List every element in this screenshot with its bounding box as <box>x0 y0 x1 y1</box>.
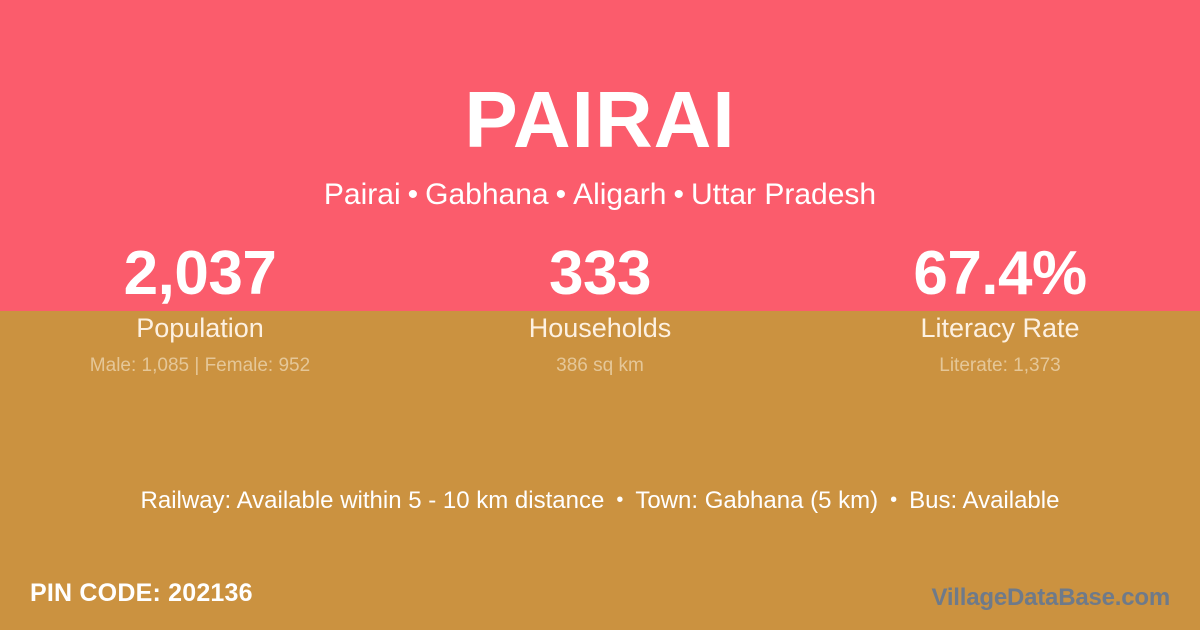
breadcrumb-district: Aligarh <box>573 178 666 211</box>
stat-sub: 386 sq km <box>400 344 800 378</box>
amenity-bus: Bus: Available <box>909 487 1059 514</box>
breadcrumb-state: Uttar Pradesh <box>691 178 876 211</box>
stat-label: Households <box>400 308 800 344</box>
stat-population: 2,037 Population Male: 1,085 | Female: 9… <box>0 240 400 378</box>
amenity-railway: Railway: Available within 5 - 10 km dist… <box>141 487 605 514</box>
card-footer: PIN CODE: 202136 VillageDataBase.com <box>0 572 1200 630</box>
village-info-card: PAIRAI Pairai•Gabhana•Aligarh•Uttar Prad… <box>0 0 1200 630</box>
breadcrumb-separator: • <box>401 178 426 211</box>
stat-sub: Literate: 1,373 <box>800 344 1200 378</box>
stat-households: 333 Households 386 sq km <box>400 240 800 378</box>
stat-value: 2,037 <box>0 240 400 308</box>
card-header: PAIRAI Pairai•Gabhana•Aligarh•Uttar Prad… <box>0 0 1200 210</box>
amenity-separator: • <box>604 489 635 511</box>
breadcrumb-block: Gabhana <box>425 178 548 211</box>
breadcrumb-village: Pairai <box>324 178 401 211</box>
stat-label: Literacy Rate <box>800 308 1200 344</box>
breadcrumb-separator: • <box>666 178 691 211</box>
amenity-separator: • <box>878 489 909 511</box>
amenities-line: Railway: Available within 5 - 10 km dist… <box>0 482 1200 519</box>
stat-sub: Male: 1,085 | Female: 952 <box>0 344 400 378</box>
stat-value: 67.4% <box>800 240 1200 308</box>
pin-code: PIN CODE: 202136 <box>30 576 253 610</box>
breadcrumb: Pairai•Gabhana•Aligarh•Uttar Pradesh <box>0 160 1200 210</box>
stat-value: 333 <box>400 240 800 308</box>
breadcrumb-separator: • <box>549 178 574 211</box>
stat-literacy-rate: 67.4% Literacy Rate Literate: 1,373 <box>800 240 1200 378</box>
page-title: PAIRAI <box>0 0 1200 160</box>
amenity-town: Town: Gabhana (5 km) <box>635 487 878 514</box>
stat-label: Population <box>0 308 400 344</box>
brand-watermark: VillageDataBase.com <box>931 582 1170 614</box>
stats-row: 2,037 Population Male: 1,085 | Female: 9… <box>0 240 1200 378</box>
